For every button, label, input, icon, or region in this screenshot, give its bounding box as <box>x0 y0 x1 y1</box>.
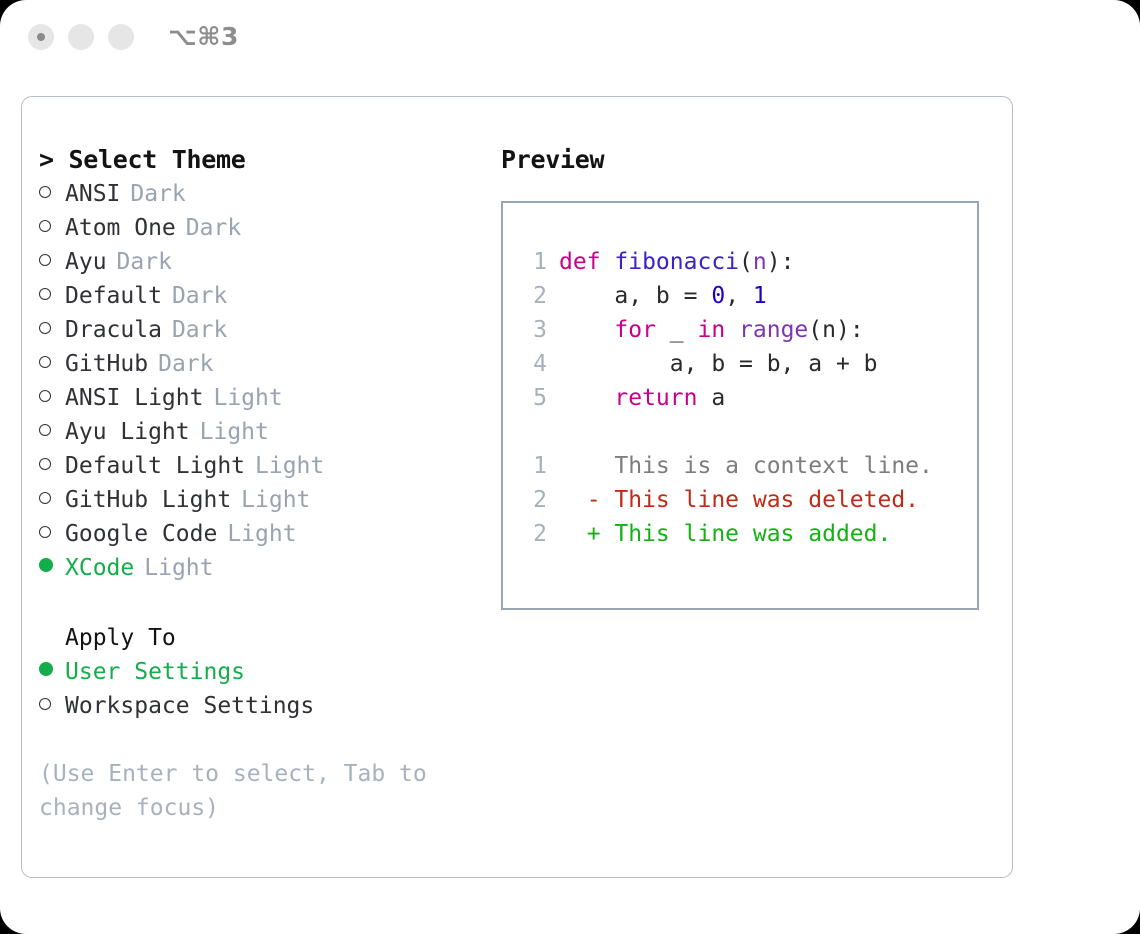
radio-empty-circle <box>39 424 51 436</box>
section-spacer <box>39 585 489 621</box>
diff-line-number: 2 <box>517 517 559 551</box>
code-token: a, b = b, a + b <box>559 351 878 377</box>
window-dot-second-icon[interactable] <box>68 24 94 50</box>
theme-category-tag: Dark <box>120 177 185 211</box>
code-token: in <box>697 317 725 343</box>
theme-option-ayu[interactable]: AyuDark <box>39 245 489 279</box>
code-line-content: def fibonacci(n): <box>559 245 794 279</box>
code-line: 2 a, b = 0, 1 <box>517 279 977 313</box>
theme-category-tag: Dark <box>107 245 172 279</box>
preview-column: Preview 1def fibonacci(n):2 a, b = 0, 13… <box>501 143 991 610</box>
code-diff-spacer <box>517 415 977 449</box>
theme-option-ansi[interactable]: ANSIDark <box>39 177 489 211</box>
theme-option-label: GitHub <box>65 347 148 381</box>
code-line-number: 3 <box>517 313 559 347</box>
code-token: ): <box>767 249 795 275</box>
keyboard-hint: (Use Enter to select, Tab to change focu… <box>39 757 459 825</box>
theme-category-tag: Light <box>231 483 310 517</box>
theme-option-label: GitHub Light <box>65 483 231 517</box>
code-token <box>559 385 614 411</box>
radio-unselected-icon[interactable] <box>39 245 65 279</box>
radio-empty-circle <box>39 356 51 368</box>
diff-line: 1 This is a context line. <box>517 449 977 483</box>
code-line-content: for _ in range(n): <box>559 313 864 347</box>
code-line-number: 5 <box>517 381 559 415</box>
code-token: _ <box>656 317 698 343</box>
code-line-number: 2 <box>517 279 559 313</box>
theme-option-github[interactable]: GitHubDark <box>39 347 489 381</box>
app-window: ⌥⌘3 > Select Theme ANSIDarkAtom OneDarkA… <box>0 0 1140 934</box>
theme-category-tag: Light <box>190 415 269 449</box>
code-line-content: a, b = b, a + b <box>559 347 878 381</box>
code-token: (n): <box>808 317 863 343</box>
radio-selected-icon[interactable] <box>39 655 65 689</box>
theme-option-ayu-light[interactable]: Ayu LightLight <box>39 415 489 449</box>
theme-option-github-light[interactable]: GitHub LightLight <box>39 483 489 517</box>
code-sample: 1def fibonacci(n):2 a, b = 0, 13 for _ i… <box>517 245 977 415</box>
code-token <box>725 317 739 343</box>
code-token: 1 <box>753 283 767 309</box>
theme-option-label: Default <box>65 279 162 313</box>
radio-empty-circle <box>39 254 51 266</box>
window-dot-third-icon[interactable] <box>108 24 134 50</box>
code-line: 5 return a <box>517 381 977 415</box>
radio-empty-circle <box>39 322 51 334</box>
radio-unselected-icon[interactable] <box>39 279 65 313</box>
code-token: return <box>614 385 697 411</box>
radio-filled-dot <box>39 662 53 676</box>
diff-line-content: - This line was deleted. <box>559 483 919 517</box>
apply-option-workspace-settings[interactable]: Workspace Settings <box>39 689 489 723</box>
theme-option-default[interactable]: DefaultDark <box>39 279 489 313</box>
apply-to-title: Apply To <box>39 621 489 655</box>
code-line-number: 1 <box>517 245 559 279</box>
radio-empty-circle <box>39 288 51 300</box>
radio-unselected-icon[interactable] <box>39 415 65 449</box>
radio-empty-circle <box>39 526 51 538</box>
theme-option-label: XCode <box>65 551 134 585</box>
code-token <box>559 317 614 343</box>
code-token: ( <box>739 249 753 275</box>
radio-unselected-icon[interactable] <box>39 483 65 517</box>
theme-option-xcode[interactable]: XCodeLight <box>39 551 489 585</box>
content-panel: > Select Theme ANSIDarkAtom OneDarkAyuDa… <box>21 96 1013 878</box>
radio-unselected-icon[interactable] <box>39 449 65 483</box>
code-token: a <box>697 385 725 411</box>
theme-category-tag: Light <box>134 551 213 585</box>
theme-option-atom-one[interactable]: Atom OneDark <box>39 211 489 245</box>
code-token: fibonacci <box>614 249 739 275</box>
title-bar: ⌥⌘3 <box>0 0 1140 78</box>
apply-option-user-settings[interactable]: User Settings <box>39 655 489 689</box>
radio-empty-circle <box>39 492 51 504</box>
theme-option-label: Ayu Light <box>65 415 190 449</box>
theme-category-tag: Light <box>245 449 324 483</box>
preview-header: Preview <box>501 143 991 177</box>
theme-option-label: Atom One <box>65 211 176 245</box>
code-line-content: return a <box>559 381 725 415</box>
theme-option-dracula[interactable]: DraculaDark <box>39 313 489 347</box>
theme-option-label: Dracula <box>65 313 162 347</box>
code-token: n <box>753 249 767 275</box>
apply-to-list: User SettingsWorkspace Settings <box>39 655 489 723</box>
code-line-number: 4 <box>517 347 559 381</box>
radio-unselected-icon[interactable] <box>39 347 65 381</box>
radio-filled-dot <box>39 558 53 572</box>
theme-option-label: ANSI <box>65 177 120 211</box>
preview-box: 1def fibonacci(n):2 a, b = 0, 13 for _ i… <box>501 201 979 610</box>
theme-category-tag: Dark <box>162 313 227 347</box>
apply-option-label: Workspace Settings <box>65 689 314 723</box>
code-token: a, b = <box>559 283 711 309</box>
theme-category-tag: Light <box>217 517 296 551</box>
code-line-content: a, b = 0, 1 <box>559 279 767 313</box>
theme-option-default-light[interactable]: Default LightLight <box>39 449 489 483</box>
theme-option-label: Google Code <box>65 517 217 551</box>
theme-option-label: ANSI Light <box>65 381 203 415</box>
diff-line-number: 2 <box>517 483 559 517</box>
theme-list: ANSIDarkAtom OneDarkAyuDarkDefaultDarkDr… <box>39 177 489 585</box>
theme-option-label: Default Light <box>65 449 245 483</box>
radio-unselected-icon[interactable] <box>39 381 65 415</box>
radio-unselected-icon[interactable] <box>39 211 65 245</box>
diff-line: 2 + This line was added. <box>517 517 977 551</box>
radio-empty-circle <box>39 186 51 198</box>
code-line: 3 for _ in range(n): <box>517 313 977 347</box>
code-line: 4 a, b = b, a + b <box>517 347 977 381</box>
panel-columns: > Select Theme ANSIDarkAtom OneDarkAyuDa… <box>22 97 1012 877</box>
diff-line-content: This is a context line. <box>559 449 933 483</box>
diff-sample: 1 This is a context line.2 - This line w… <box>517 449 977 551</box>
code-line: 1def fibonacci(n): <box>517 245 977 279</box>
window-controls <box>28 24 134 50</box>
code-token: for <box>614 317 656 343</box>
code-token: range <box>739 317 808 343</box>
radio-selected-icon[interactable] <box>39 551 65 585</box>
keyboard-shortcut-label: ⌥⌘3 <box>168 22 239 51</box>
diff-line-number: 1 <box>517 449 559 483</box>
code-token: def <box>559 249 614 275</box>
diff-line-content: + This line was added. <box>559 517 891 551</box>
radio-empty-circle <box>39 220 51 232</box>
theme-selection-column: > Select Theme ANSIDarkAtom OneDarkAyuDa… <box>39 143 489 825</box>
theme-category-tag: Dark <box>148 347 213 381</box>
code-token: , <box>725 283 753 309</box>
code-token: 0 <box>711 283 725 309</box>
radio-empty-circle <box>39 458 51 470</box>
radio-unselected-icon[interactable] <box>39 689 65 723</box>
theme-category-tag: Light <box>203 381 282 415</box>
window-dot-active-inner <box>37 33 45 41</box>
apply-option-label: User Settings <box>65 655 245 689</box>
radio-empty-circle <box>39 390 51 402</box>
theme-option-ansi-light[interactable]: ANSI LightLight <box>39 381 489 415</box>
theme-option-label: Ayu <box>65 245 107 279</box>
radio-unselected-icon[interactable] <box>39 313 65 347</box>
radio-empty-circle <box>39 698 51 710</box>
theme-option-google-code[interactable]: Google CodeLight <box>39 517 489 551</box>
radio-unselected-icon[interactable] <box>39 517 65 551</box>
radio-unselected-icon[interactable] <box>39 177 65 211</box>
theme-category-tag: Dark <box>162 279 227 313</box>
select-theme-header: > Select Theme <box>39 143 489 177</box>
diff-line: 2 - This line was deleted. <box>517 483 977 517</box>
theme-category-tag: Dark <box>176 211 241 245</box>
window-dot-active-icon[interactable] <box>28 24 54 50</box>
